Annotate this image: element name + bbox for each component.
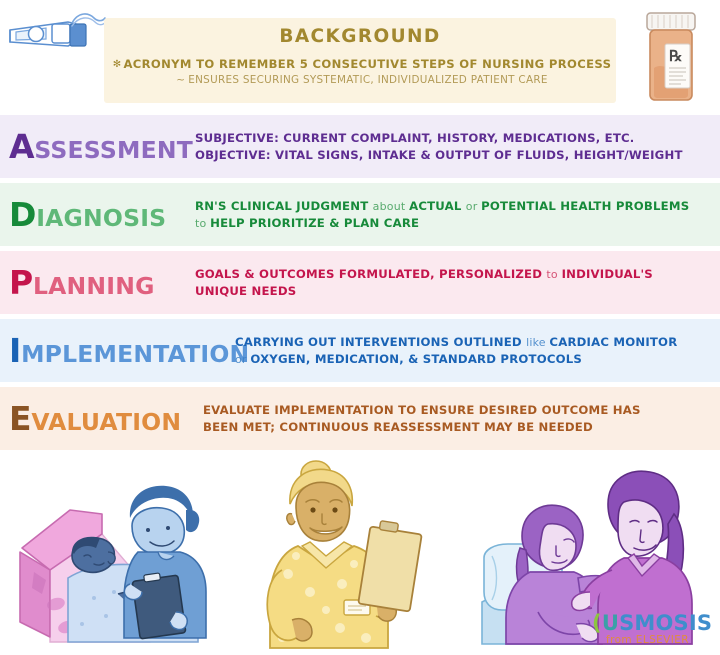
step-description-evaluation: EVALUATE IMPLEMENTATION TO ENSURE DESIRE… (199, 402, 720, 436)
logo-bracket-icon: ( (592, 611, 602, 635)
logo-wordmark: (USMOSIS (592, 613, 712, 634)
step-word-assessment: ASSESSMENT (9, 130, 195, 163)
illustration-nurse-standing (258, 452, 463, 652)
blood-pressure-cuff-icon (6, 8, 110, 60)
osmosis-elsevier-logo: (USMOSIS from ELSEVIER (592, 613, 712, 651)
header-bullet-line-2: ~ENSURES SECURING SYSTEMATIC, INDIVIDUAL… (112, 74, 612, 86)
step-description-line: RN'S CLINICAL JUDGMENT about ACTUAL or P… (195, 198, 702, 215)
logo-subtitle: from ELSEVIER (606, 634, 689, 646)
tilde-bullet-icon: ~ (176, 74, 185, 86)
step-description-line: UNIQUE NEEDS (195, 283, 702, 300)
logo-u-letter: U (602, 611, 619, 635)
step-band-planning: PLANNING GOALS & OUTCOMES FORMULATED, PE… (0, 251, 720, 314)
step-description-line: BEEN MET; CONTINUOUS REASSESSMENT MAY BE… (203, 419, 702, 436)
step-initial-letter: P (9, 263, 33, 302)
asterisk-bullet-icon: ✻ (113, 59, 122, 70)
step-word-remainder: VALUATION (31, 408, 181, 436)
step-band-implementation: IMPLEMENTATION CARRYING OUT INTERVENTION… (0, 319, 720, 382)
step-word-evaluation: EVALUATION (9, 402, 199, 435)
logo-name-text: SMOSIS (619, 611, 712, 635)
step-band-diagnosis: DIAGNOSIS RN'S CLINICAL JUDGMENT about A… (0, 183, 720, 246)
step-word-remainder: SSESSMENT (34, 136, 193, 164)
step-word-diagnosis: DIAGNOSIS (9, 198, 195, 231)
step-word-planning: PLANNING (9, 266, 195, 299)
step-word-remainder: IAGNOSIS (36, 204, 166, 232)
header-section: BACKGROUND ✻ACRONYM TO REMEMBER 5 CONSEC… (0, 0, 720, 113)
rx-label: ℞ (669, 47, 682, 65)
step-description-line: CARRYING OUT INTERVENTIONS OUTLINED like… (235, 334, 702, 351)
step-description-line: EVALUATE IMPLEMENTATION TO ENSURE DESIRE… (203, 402, 702, 419)
step-description-assessment: SUBJECTIVE: CURRENT COMPLAINT, HISTORY, … (195, 130, 720, 164)
illustration-bedside-assessment (10, 452, 240, 652)
step-word-remainder: LANNING (33, 272, 155, 300)
step-initial-letter: E (9, 399, 31, 438)
nursing-process-infographic: BACKGROUND ✻ACRONYM TO REMEMBER 5 CONSEC… (0, 0, 720, 655)
step-initial-letter: I (9, 331, 21, 370)
step-initial-letter: A (9, 127, 34, 166)
header-line1-text: ACRONYM TO REMEMBER 5 CONSECUTIVE STEPS … (123, 57, 611, 71)
header-bullet-line-1: ✻ACRONYM TO REMEMBER 5 CONSECUTIVE STEPS… (112, 57, 612, 71)
step-description-line: OBJECTIVE: VITAL SIGNS, INTAKE & OUTPUT … (195, 147, 702, 164)
step-band-assessment: ASSESSMENT SUBJECTIVE: CURRENT COMPLAINT… (0, 115, 720, 178)
logo-brand-text: ELSEVIER (636, 634, 689, 646)
step-description-line: or OXYGEN, MEDICATION, & STANDARD PROTOC… (235, 351, 702, 368)
step-description-planning: GOALS & OUTCOMES FORMULATED, PERSONALIZE… (195, 266, 720, 300)
page-title: BACKGROUND (104, 26, 616, 47)
header-line2-text: ENSURES SECURING SYSTEMATIC, INDIVIDUALI… (188, 74, 548, 86)
step-description-implementation: CARRYING OUT INTERVENTIONS OUTLINED like… (235, 334, 720, 368)
step-description-line: SUBJECTIVE: CURRENT COMPLAINT, HISTORY, … (195, 130, 702, 147)
prescription-pill-bottle-icon: ℞ (636, 6, 708, 106)
step-word-implementation: IMPLEMENTATION (9, 334, 235, 367)
step-initial-letter: D (9, 195, 36, 234)
step-description-line: GOALS & OUTCOMES FORMULATED, PERSONALIZE… (195, 266, 702, 283)
step-band-evaluation: EVALUATION EVALUATE IMPLEMENTATION TO EN… (0, 387, 720, 450)
logo-from-text: from (606, 634, 636, 646)
step-description-line: to HELP PRIORITIZE & PLAN CARE (195, 215, 702, 232)
step-description-diagnosis: RN'S CLINICAL JUDGMENT about ACTUAL or P… (195, 198, 720, 232)
step-word-remainder: MPLEMENTATION (21, 340, 249, 368)
